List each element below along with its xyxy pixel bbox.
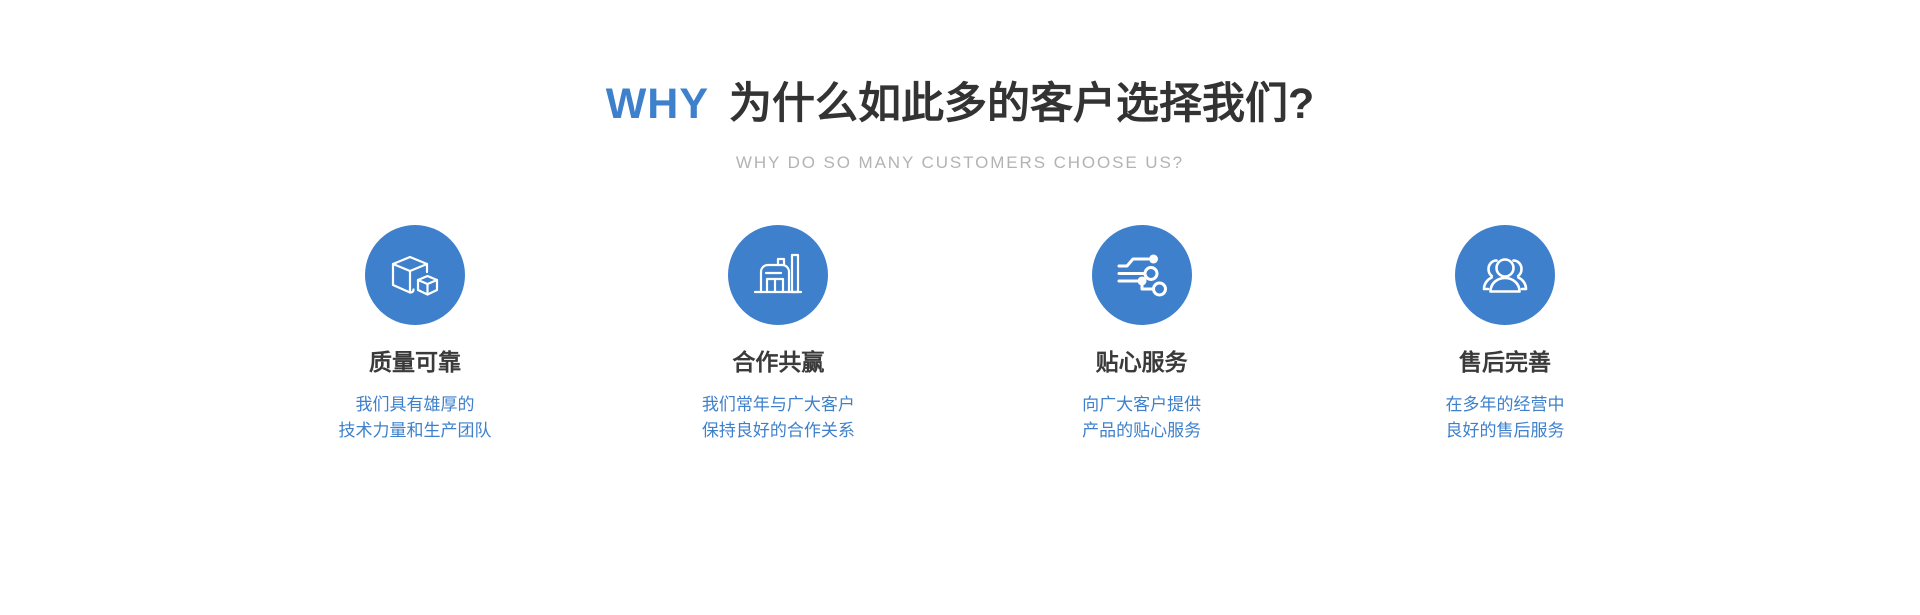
section-header: WHY 为什么如此多的客户选择我们? WHY DO SO MANY CUSTOM… bbox=[606, 83, 1315, 173]
feature-card[interactable]: 售后完善 在多年的经营中 良好的售后服务 bbox=[1380, 225, 1630, 445]
factory-icon bbox=[750, 247, 806, 303]
feature-description-line: 向广大客户提供 bbox=[1082, 392, 1201, 418]
title-main-text: 为什么如此多的客户选择我们? bbox=[729, 83, 1314, 126]
feature-icon-circle bbox=[1455, 225, 1555, 325]
feature-card-list: 质量可靠 我们具有雄厚的 技术力量和生产团队 bbox=[290, 225, 1630, 445]
why-choose-us-section: WHY 为什么如此多的客户选择我们? WHY DO SO MANY CUSTOM… bbox=[0, 0, 1920, 615]
page-subtitle: WHY DO SO MANY CUSTOMERS CHOOSE US? bbox=[606, 153, 1315, 173]
feature-description-line: 保持良好的合作关系 bbox=[702, 418, 855, 444]
boxes-package-icon bbox=[387, 247, 443, 303]
feature-icon-circle bbox=[1092, 225, 1192, 325]
feature-description-line: 技术力量和生产团队 bbox=[339, 418, 492, 444]
title-accent-word: WHY bbox=[606, 83, 709, 126]
users-group-icon bbox=[1477, 247, 1533, 303]
circuit-nodes-icon bbox=[1114, 247, 1170, 303]
feature-icon-circle bbox=[728, 225, 828, 325]
feature-title: 售后完善 bbox=[1459, 351, 1551, 374]
page-title: WHY 为什么如此多的客户选择我们? bbox=[606, 83, 1315, 126]
feature-description-line: 产品的贴心服务 bbox=[1082, 418, 1201, 444]
feature-description: 我们具有雄厚的 技术力量和生产团队 bbox=[339, 392, 492, 445]
feature-description: 在多年的经营中 良好的售后服务 bbox=[1445, 392, 1564, 445]
feature-card[interactable]: 贴心服务 向广大客户提供 产品的贴心服务 bbox=[1017, 225, 1267, 445]
feature-title: 质量可靠 bbox=[369, 351, 461, 374]
feature-title: 合作共赢 bbox=[732, 351, 824, 374]
feature-description: 我们常年与广大客户 保持良好的合作关系 bbox=[702, 392, 855, 445]
feature-description-line: 我们常年与广大客户 bbox=[702, 392, 855, 418]
feature-card[interactable]: 合作共赢 我们常年与广大客户 保持良好的合作关系 bbox=[653, 225, 903, 445]
feature-description-line: 我们具有雄厚的 bbox=[339, 392, 492, 418]
feature-description: 向广大客户提供 产品的贴心服务 bbox=[1082, 392, 1201, 445]
feature-description-line: 良好的售后服务 bbox=[1445, 418, 1564, 444]
feature-card[interactable]: 质量可靠 我们具有雄厚的 技术力量和生产团队 bbox=[290, 225, 540, 445]
feature-icon-circle bbox=[365, 225, 465, 325]
feature-description-line: 在多年的经营中 bbox=[1445, 392, 1564, 418]
feature-title: 贴心服务 bbox=[1096, 351, 1188, 374]
